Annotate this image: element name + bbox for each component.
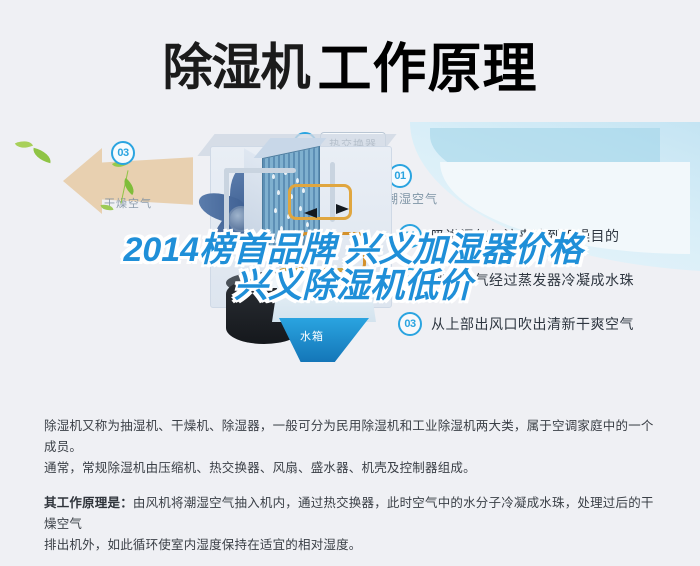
legend-badge: 01 [398, 224, 422, 248]
legend-item: 02 潮湿空气经过蒸发器冷凝成水珠 [398, 258, 688, 302]
legend-badge: 02 [398, 268, 422, 292]
callout-badge-03: 03 [111, 141, 135, 165]
legend-label: 潮湿空气经过蒸发器冷凝成水珠 [431, 270, 634, 290]
infographic-illustration: 干燥空气 03 02 01 热交换器 潮湿空气 [0, 118, 700, 403]
body-paragraph1-line2: 通常，常规除湿机由压缩机、热交换器、风扇、盛水器、机壳及控制器组成。 [44, 458, 664, 479]
flow-arrow-icon [336, 204, 349, 214]
body-paragraph1-line1: 除湿机又称为抽湿机、干燥机、除湿器，一般可分为民用除湿机和工业除湿机两大类，属于… [44, 416, 664, 458]
page-title-part1: 除湿机 [163, 40, 310, 96]
leaf-icon [15, 137, 33, 151]
refrigerant-pipe [226, 168, 296, 173]
flow-arrow-icon [304, 208, 317, 218]
evaporator-side [244, 148, 264, 256]
body-paragraph2-lead: 其工作原理是： [44, 496, 133, 510]
water-tank-fill [279, 318, 369, 362]
legend-list: 01 吸进湿气气流来达到干燥目的 02 潮湿空气经过蒸发器冷凝成水珠 03 从上… [398, 214, 688, 346]
legend-badge: 03 [398, 312, 422, 336]
body-paragraph2-line1: 其工作原理是：由风机将潮湿空气抽入机内，通过热交换器，此时空气中的水分子冷凝成水… [44, 493, 664, 535]
body-paragraph2-line2: 排出机外，如此循环使室内湿度保持在适宜的相对湿度。 [44, 535, 664, 556]
legend-label: 吸进湿气气流来达到干燥目的 [431, 226, 620, 246]
page-title: 除湿机工作原理 [0, 24, 700, 103]
body-paragraph2-line1-text: 由风机将潮湿空气抽入机内，通过热交换器，此时空气中的水分子冷凝成水珠，处理过后的… [44, 496, 654, 531]
refrigerant-pipe [224, 168, 229, 238]
leaf-icon [31, 148, 53, 164]
copper-coil [288, 184, 352, 220]
dehumidifier-machine: 水箱 [180, 128, 410, 368]
copper-coil [298, 232, 366, 272]
water-tank-label: 水箱 [300, 328, 324, 344]
water-tank-body [272, 280, 376, 322]
legend-item: 03 从上部出风口吹出清新干爽空气 [398, 302, 688, 346]
page-title-part2: 工作原理 [318, 39, 538, 99]
body-copy: 除湿机又称为抽湿机、干燥机、除湿器，一般可分为民用除湿机和工业除湿机两大类，属于… [44, 416, 664, 556]
paragraph-spacer [44, 479, 664, 493]
legend-item: 01 吸进湿气气流来达到干燥目的 [398, 214, 688, 258]
legend-label: 从上部出风口吹出清新干爽空气 [431, 314, 634, 334]
page-root: 除湿机工作原理 干燥空气 03 02 01 热交换器 潮湿空气 [0, 0, 700, 566]
